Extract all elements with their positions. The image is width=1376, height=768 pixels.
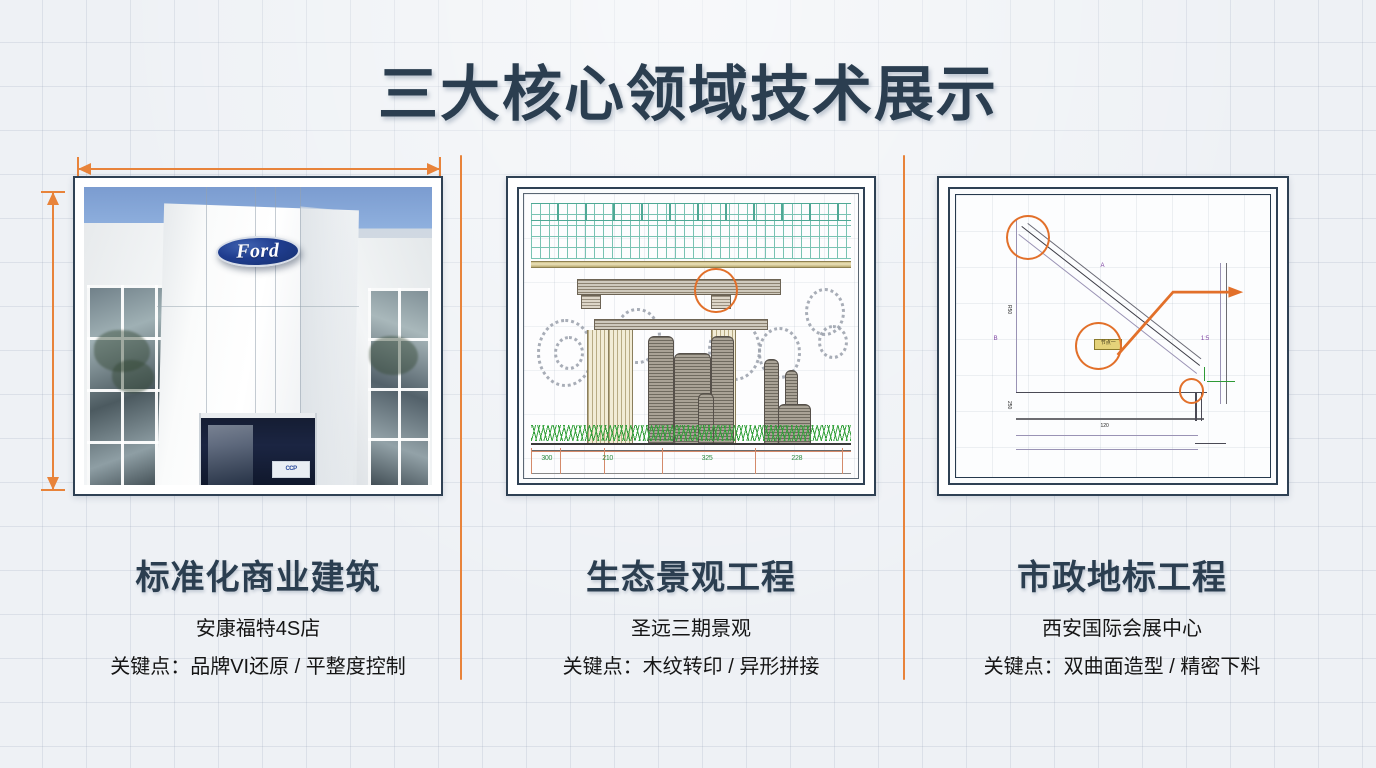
media-frame: CCP Ford	[73, 176, 443, 496]
cards-row: CCP Ford 标准化商业建筑 安康福特4S店 关键点：品牌VI还原 / 平整…	[0, 0, 1376, 768]
card-title: 生态景观工程	[506, 550, 876, 599]
media-frame: 300 210 325 228	[506, 176, 876, 496]
entrance-sign: CCP	[272, 461, 310, 477]
card-keypoints: 关键点：双曲面造型 / 精密下料	[937, 650, 1307, 679]
card-keypoints: 关键点：木纹转印 / 异形拼接	[506, 650, 876, 679]
card-caption: 市政地标工程 西安国际会展中心 关键点：双曲面造型 / 精密下料	[937, 550, 1307, 679]
dimension-label: 325	[702, 455, 713, 462]
ford-dealership-facade-photo: CCP Ford	[84, 187, 432, 485]
card-title: 标准化商业建筑	[73, 550, 443, 599]
dimension-label: 300	[541, 455, 552, 462]
landscape-wall-elevation-drawing: 300 210 325 228	[517, 187, 865, 485]
hyperbolic-structural-detail-drawing: A B 1:5 R50 120 250 节点一	[948, 187, 1278, 485]
entrance-sign-label: CCP	[285, 466, 296, 472]
card-subtitle: 西安国际会展中心	[937, 612, 1307, 641]
card-ecological-landscape-project[interactable]: 300 210 325 228 生态景观工程 圣远三期景观 关键点：木纹转印 /…	[506, 176, 876, 679]
card-subtitle: 圣远三期景观	[506, 612, 876, 641]
media-frame: A B 1:5 R50 120 250 节点一	[937, 176, 1289, 496]
card-caption: 生态景观工程 圣远三期景观 关键点：木纹转印 / 异形拼接	[506, 550, 876, 679]
dimension-band: 300 210 325 228	[531, 451, 852, 474]
ford-logo-text: Ford	[236, 240, 280, 264]
card-title: 市政地标工程	[937, 550, 1307, 599]
dimension-label: 228	[791, 455, 802, 462]
highlight-circle-annotation	[694, 268, 737, 313]
dimension-label: 210	[602, 455, 613, 462]
card-caption: 标准化商业建筑 安康福特4S店 关键点：品牌VI还原 / 平整度控制	[73, 550, 443, 679]
leader-arrow-icon	[956, 195, 1270, 477]
card-municipal-landmark-project[interactable]: A B 1:5 R50 120 250 节点一	[937, 176, 1307, 679]
card-standard-commercial-building[interactable]: CCP Ford 标准化商业建筑 安康福特4S店 关键点：品牌VI还原 / 平整…	[73, 176, 443, 679]
card-subtitle: 安康福特4S店	[73, 612, 443, 641]
card-keypoints: 关键点：品牌VI还原 / 平整度控制	[73, 650, 443, 679]
